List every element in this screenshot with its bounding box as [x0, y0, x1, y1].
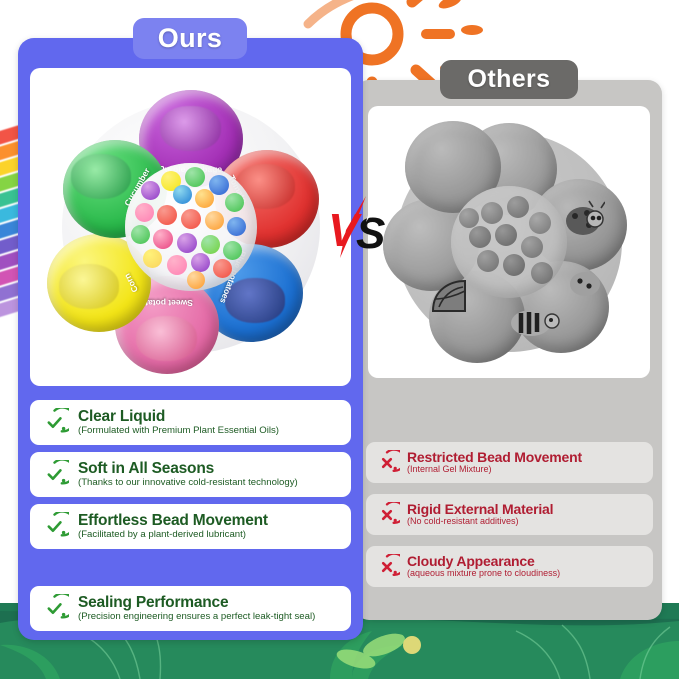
- others-feature-text: Restricted Bead Movement (Internal Gel M…: [407, 450, 582, 474]
- ours-feature-sub: (Facilitated by a plant-derived lubrican…: [78, 530, 268, 540]
- vs-icon: V S: [326, 196, 396, 260]
- svg-text:S: S: [356, 209, 385, 258]
- others-feature-title: Rigid External Material: [407, 502, 553, 517]
- ours-feature-title: Clear Liquid: [78, 409, 279, 425]
- petal-label: Corn: [122, 272, 140, 294]
- check-circle-icon: [40, 460, 69, 489]
- others-feature-sub: (aqueous mixture prone to cloudiness): [407, 569, 560, 579]
- others-feature-sub: (No cold-resistant additives): [407, 517, 553, 527]
- cross-circle-icon: [374, 450, 400, 476]
- others-badge: Others: [440, 60, 578, 99]
- others-badge-label: Others: [468, 65, 551, 94]
- others-feature-card[interactable]: Cloudy Appearance (aqueous mixture prone…: [366, 546, 653, 587]
- check-circle-icon: [40, 408, 69, 437]
- others-feature-title: Restricted Bead Movement: [407, 450, 582, 465]
- flower-fidget-toy-color: Purple cabbage Tomato Blue potatoes Swee…: [55, 94, 327, 360]
- ours-badge-label: Ours: [158, 23, 223, 54]
- others-feature-card[interactable]: Rigid External Material (No cold-resista…: [366, 494, 653, 535]
- ours-feature-title: Soft in All Seasons: [78, 461, 298, 477]
- cross-circle-icon: [374, 502, 400, 528]
- ours-feature-card[interactable]: Soft in All Seasons (Thanks to our innov…: [30, 452, 351, 497]
- comparison-infographic: Others: [0, 0, 679, 679]
- ours-feature-sub: (Thanks to our innovative cold-resistant…: [78, 478, 298, 488]
- ours-badge: Ours: [133, 18, 247, 59]
- flower-fidget-toy-grayscale: [389, 125, 629, 359]
- ours-feature-title: Sealing Performance: [78, 595, 315, 611]
- bead-hub: [125, 163, 257, 291]
- others-feature-card[interactable]: Restricted Bead Movement (Internal Gel M…: [366, 442, 653, 483]
- ours-feature-title: Effortless Bead Movement: [78, 513, 268, 529]
- ours-product-image: Purple cabbage Tomato Blue potatoes Swee…: [30, 68, 351, 386]
- ours-feature-sub: (Precision engineering ensures a perfect…: [78, 612, 315, 622]
- ours-feature-text: Soft in All Seasons (Thanks to our innov…: [78, 461, 298, 488]
- cross-circle-icon: [374, 554, 400, 580]
- others-feature-title: Cloudy Appearance: [407, 554, 560, 569]
- check-circle-icon: [40, 512, 69, 541]
- others-feature-text: Cloudy Appearance (aqueous mixture prone…: [407, 554, 560, 578]
- ours-feature-text: Effortless Bead Movement (Facilitated by…: [78, 513, 268, 540]
- ours-feature-sub: (Formulated with Premium Plant Essential…: [78, 426, 279, 436]
- others-feature-sub: (Internal Gel Mixture): [407, 465, 582, 475]
- petal-label: Sweet potato: [140, 298, 193, 308]
- ours-feature-text: Sealing Performance (Precision engineeri…: [78, 595, 315, 622]
- others-feature-text: Rigid External Material (No cold-resista…: [407, 502, 553, 526]
- ours-feature-text: Clear Liquid (Formulated with Premium Pl…: [78, 409, 279, 436]
- ours-feature-card[interactable]: Sealing Performance (Precision engineeri…: [30, 586, 351, 631]
- others-product-image: [368, 106, 650, 378]
- ours-feature-card[interactable]: Clear Liquid (Formulated with Premium Pl…: [30, 400, 351, 445]
- ours-feature-card[interactable]: Effortless Bead Movement (Facilitated by…: [30, 504, 351, 549]
- check-circle-icon: [40, 594, 69, 623]
